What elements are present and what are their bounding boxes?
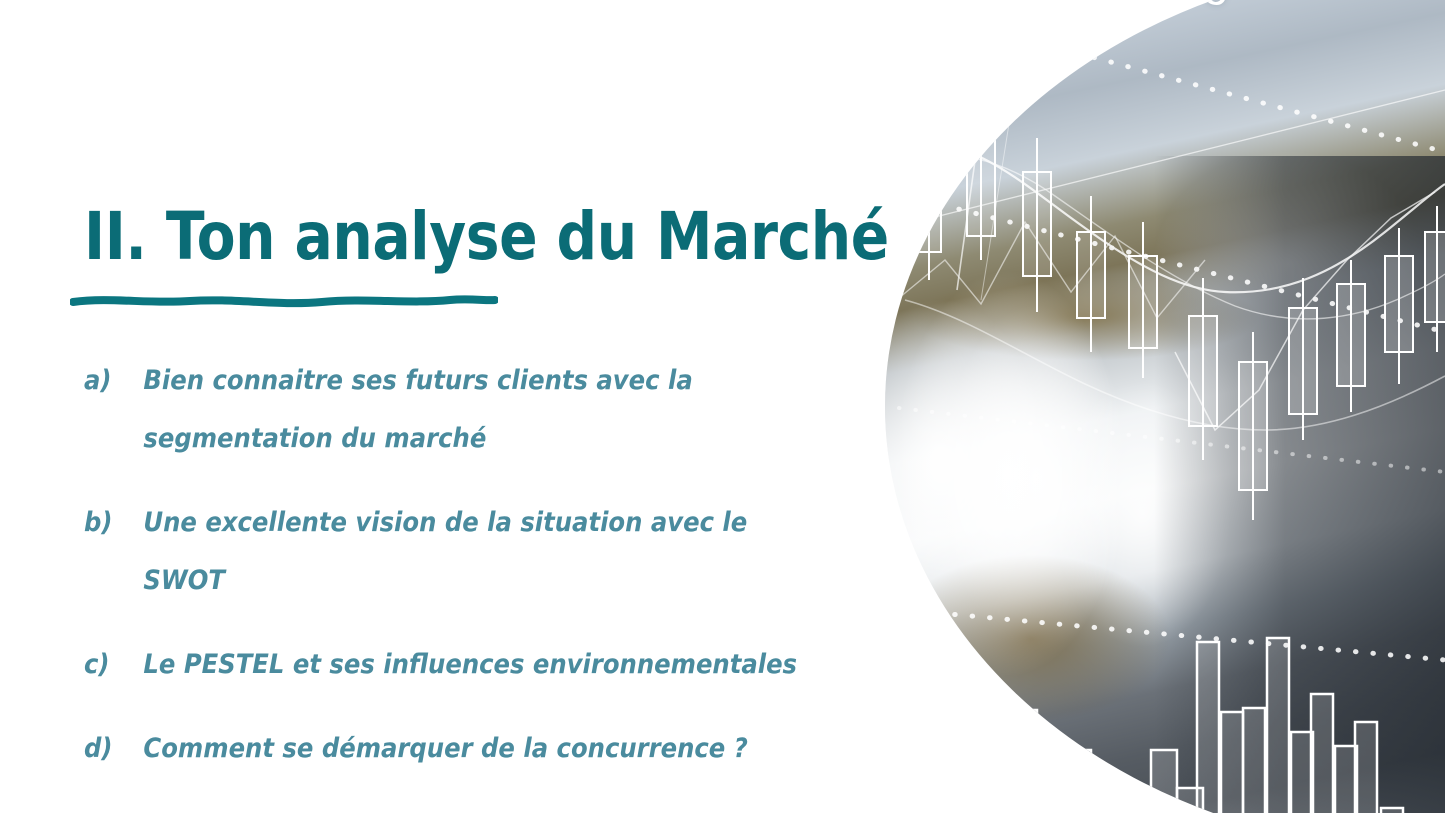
list-item-marker: c) <box>84 636 110 694</box>
list-item-label: Comment se démarquer de la concurrence ? <box>143 733 747 764</box>
slide-content: II. Ton analyse du Marché a) Bien connai… <box>0 0 900 813</box>
list-item: d) Comment se démarquer de la concurrenc… <box>84 720 804 778</box>
decorative-image-panel: 6.6 1.65 <box>885 0 1445 813</box>
list-item: c) Le PESTEL et ses influences environne… <box>84 636 804 694</box>
page-title: II. Ton analyse du Marché <box>84 198 772 276</box>
slide: II. Ton analyse du Marché a) Bien connai… <box>0 0 1445 813</box>
list-item-label: Le PESTEL et ses influences environnemen… <box>143 649 797 680</box>
stock-chart-overlay <box>885 0 1445 813</box>
list-item: a) Bien connaitre ses futurs clients ave… <box>84 352 755 468</box>
title-underline-decoration <box>70 288 498 312</box>
list-item: b) Une excellente vision de la situation… <box>84 494 804 610</box>
list-item-marker: d) <box>84 720 113 778</box>
list-item-label: Bien connaitre ses futurs clients avec l… <box>143 365 692 454</box>
list-item-marker: b) <box>84 494 113 552</box>
list-item-marker: a) <box>84 352 112 410</box>
list-item-label: Une excellente vision de la situation av… <box>143 507 747 596</box>
bullet-list: a) Bien connaitre ses futurs clients ave… <box>84 352 884 804</box>
image-clip-shape: 6.6 1.65 <box>885 0 1445 813</box>
